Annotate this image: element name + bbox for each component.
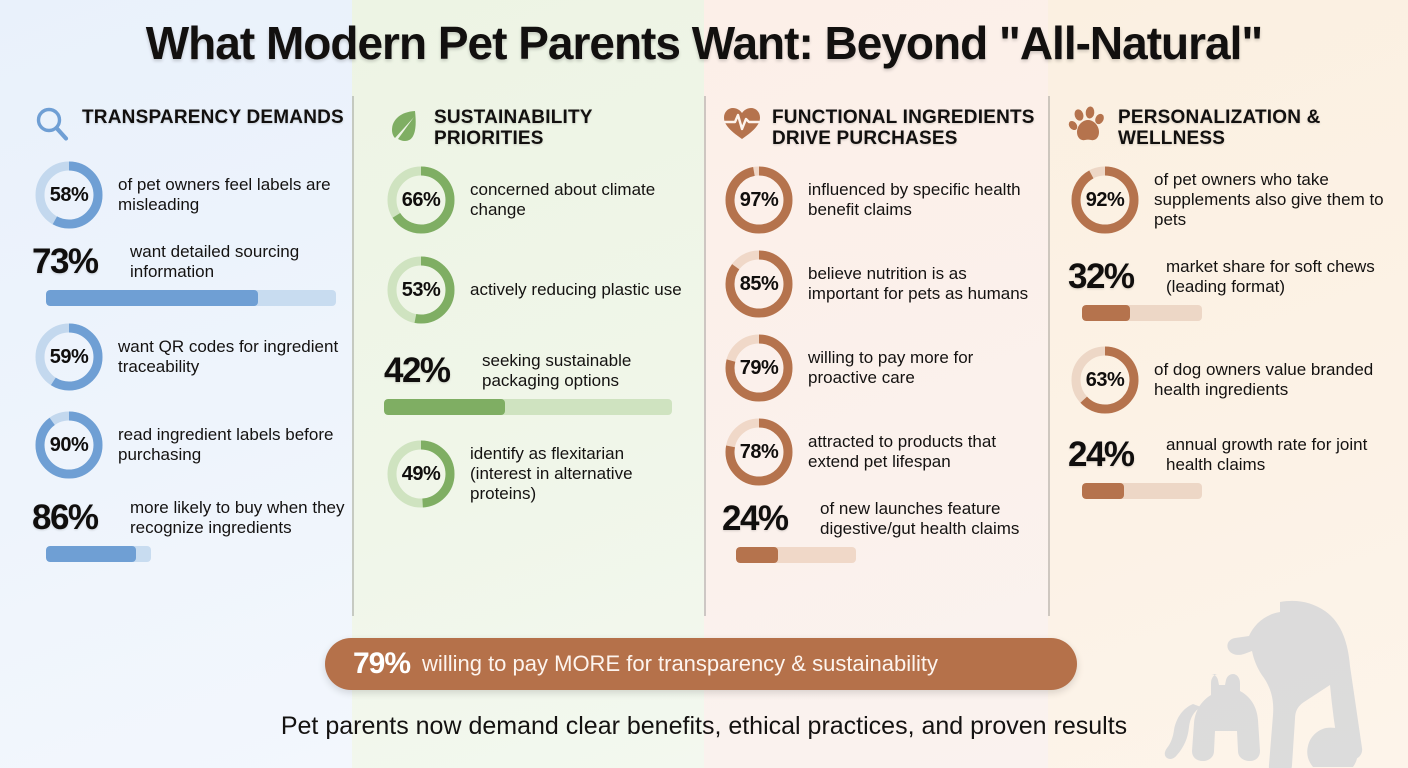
- stat-row: 85% believe nutrition is as important fo…: [722, 247, 1042, 321]
- donut-value: 78%: [722, 415, 796, 489]
- infographic-canvas: What Modern Pet Parents Want: Beyond "Al…: [0, 0, 1408, 768]
- stat-label: of pet owners feel labels are misleading: [118, 175, 352, 214]
- donut-chart: 78%: [722, 415, 796, 489]
- stat-row: 58% of pet owners feel labels are mislea…: [32, 158, 352, 232]
- stat-label: identify as flexitarian (interest in alt…: [470, 444, 684, 503]
- banner-text: willing to pay MORE for transparency & s…: [422, 651, 938, 677]
- progress-bar-track: [1082, 305, 1202, 321]
- column-header-personalization: PERSONALIZATION & WELLNESS: [1068, 104, 1398, 149]
- donut-value: 63%: [1068, 343, 1142, 417]
- stat-label: believe nutrition is as important for pe…: [808, 264, 1042, 303]
- stat-row: 53% actively reducing plastic use: [384, 253, 684, 327]
- donut-value: 90%: [32, 408, 106, 482]
- stat-row: 24% of new launches feature digestive/gu…: [722, 499, 1042, 539]
- stat-row: 86% more likely to buy when they recogni…: [32, 498, 352, 538]
- stat-label: attracted to products that extend pet li…: [808, 432, 1042, 471]
- stat-row: 66% concerned about climate change: [384, 163, 684, 237]
- donut-value: 79%: [722, 331, 796, 405]
- donut-chart: 63%: [1068, 343, 1142, 417]
- column-personalization: PERSONALIZATION & WELLNESS 92% of pet ow…: [1068, 104, 1398, 513]
- column-sustainability: SUSTAINABILITY PRIORITIES 66% concerned …: [384, 104, 684, 521]
- stat-row: 59% want QR codes for ingredient traceab…: [32, 320, 352, 394]
- donut-value: 92%: [1068, 163, 1142, 237]
- stat-row: 32% market share for soft chews (leading…: [1068, 257, 1398, 297]
- column-heading-label: FUNCTIONAL INGREDIENTS DRIVE PURCHASES: [772, 104, 1042, 149]
- progress-bar-fill: [736, 547, 778, 563]
- stat-value-large: 24%: [722, 499, 808, 539]
- column-heading-label: PERSONALIZATION & WELLNESS: [1118, 104, 1398, 149]
- progress-bar-track: [1082, 483, 1202, 499]
- stat-label: want detailed sourcing information: [130, 242, 352, 281]
- stat-label: seeking sustainable packaging options: [482, 351, 684, 390]
- column-divider-1: [352, 96, 354, 616]
- donut-value: 59%: [32, 320, 106, 394]
- donut-chart: 66%: [384, 163, 458, 237]
- column-functional-ingredients: FUNCTIONAL INGREDIENTS DRIVE PURCHASES 9…: [722, 104, 1042, 577]
- column-divider-2: [704, 96, 706, 616]
- donut-value: 49%: [384, 437, 458, 511]
- progress-bar-fill: [46, 546, 136, 562]
- progress-bar-fill: [1082, 483, 1124, 499]
- stat-label: concerned about climate change: [470, 180, 684, 219]
- highlight-banner: 79% willing to pay MORE for transparency…: [325, 638, 1077, 690]
- stat-label: influenced by specific health benefit cl…: [808, 180, 1042, 219]
- column-divider-3: [1048, 96, 1050, 616]
- column-header-transparency: TRANSPARENCY DEMANDS: [32, 104, 352, 144]
- donut-chart: 59%: [32, 320, 106, 394]
- progress-bar-track: [736, 547, 856, 563]
- banner-percent: 79%: [353, 647, 410, 681]
- column-header-sustainability: SUSTAINABILITY PRIORITIES: [384, 104, 684, 149]
- stat-row: 24% annual growth rate for joint health …: [1068, 435, 1398, 475]
- donut-value: 58%: [32, 158, 106, 232]
- donut-chart: 85%: [722, 247, 796, 321]
- stat-row: 79% willing to pay more for proactive ca…: [722, 331, 1042, 405]
- stat-label: more likely to buy when they recognize i…: [130, 498, 352, 537]
- stat-row: 90% read ingredient labels before purcha…: [32, 408, 352, 482]
- stat-label: want QR codes for ingredient traceabilit…: [118, 337, 352, 376]
- donut-chart: 92%: [1068, 163, 1142, 237]
- stat-row: 78% attracted to products that extend pe…: [722, 415, 1042, 489]
- column-transparency: TRANSPARENCY DEMANDS 58% of pet owners f…: [32, 104, 352, 576]
- stat-row: 49% identify as flexitarian (interest in…: [384, 437, 684, 511]
- page-title: What Modern Pet Parents Want: Beyond "Al…: [0, 16, 1408, 70]
- stat-row: 42% seeking sustainable packaging option…: [384, 351, 684, 391]
- donut-chart: 90%: [32, 408, 106, 482]
- column-heading-label: TRANSPARENCY DEMANDS: [82, 104, 344, 129]
- magnifier-icon: [32, 104, 72, 144]
- progress-bar-track: [46, 290, 336, 306]
- stat-label: willing to pay more for proactive care: [808, 348, 1042, 387]
- heart-pulse-icon: [722, 104, 762, 144]
- donut-chart: 53%: [384, 253, 458, 327]
- stat-value-large: 73%: [32, 242, 118, 282]
- donut-chart: 97%: [722, 163, 796, 237]
- donut-value: 66%: [384, 163, 458, 237]
- column-heading-label: SUSTAINABILITY PRIORITIES: [434, 104, 684, 149]
- progress-bar-fill: [1082, 305, 1130, 321]
- leaf-icon: [384, 104, 424, 144]
- donut-chart: 79%: [722, 331, 796, 405]
- stat-label: read ingredient labels before purchasing: [118, 425, 352, 464]
- stat-value-large: 42%: [384, 351, 470, 391]
- donut-chart: 49%: [384, 437, 458, 511]
- progress-bar-track: [384, 399, 672, 415]
- donut-value: 97%: [722, 163, 796, 237]
- stat-label: market share for soft chews (leading for…: [1166, 257, 1398, 296]
- stat-label: of dog owners value branded health ingre…: [1154, 360, 1398, 399]
- progress-bar-fill: [46, 290, 258, 306]
- stat-row: 73% want detailed sourcing information: [32, 242, 352, 282]
- stat-row: 92% of pet owners who take supplements a…: [1068, 163, 1398, 237]
- progress-bar-track: [46, 546, 151, 562]
- progress-bar-fill: [384, 399, 505, 415]
- donut-value: 85%: [722, 247, 796, 321]
- stat-value-large: 86%: [32, 498, 118, 538]
- stat-value-large: 24%: [1068, 435, 1154, 475]
- paw-icon: [1068, 104, 1108, 144]
- stat-label: of new launches feature digestive/gut he…: [820, 499, 1042, 538]
- stat-label: actively reducing plastic use: [470, 280, 682, 300]
- stat-row: 97% influenced by specific health benefi…: [722, 163, 1042, 237]
- donut-chart: 58%: [32, 158, 106, 232]
- footnote-text: Pet parents now demand clear benefits, e…: [0, 712, 1408, 741]
- stat-label: annual growth rate for joint health clai…: [1166, 435, 1398, 474]
- stat-row: 63% of dog owners value branded health i…: [1068, 343, 1398, 417]
- donut-value: 53%: [384, 253, 458, 327]
- stat-label: of pet owners who take supplements also …: [1154, 170, 1398, 229]
- column-header-functional: FUNCTIONAL INGREDIENTS DRIVE PURCHASES: [722, 104, 1042, 149]
- stat-value-large: 32%: [1068, 257, 1154, 297]
